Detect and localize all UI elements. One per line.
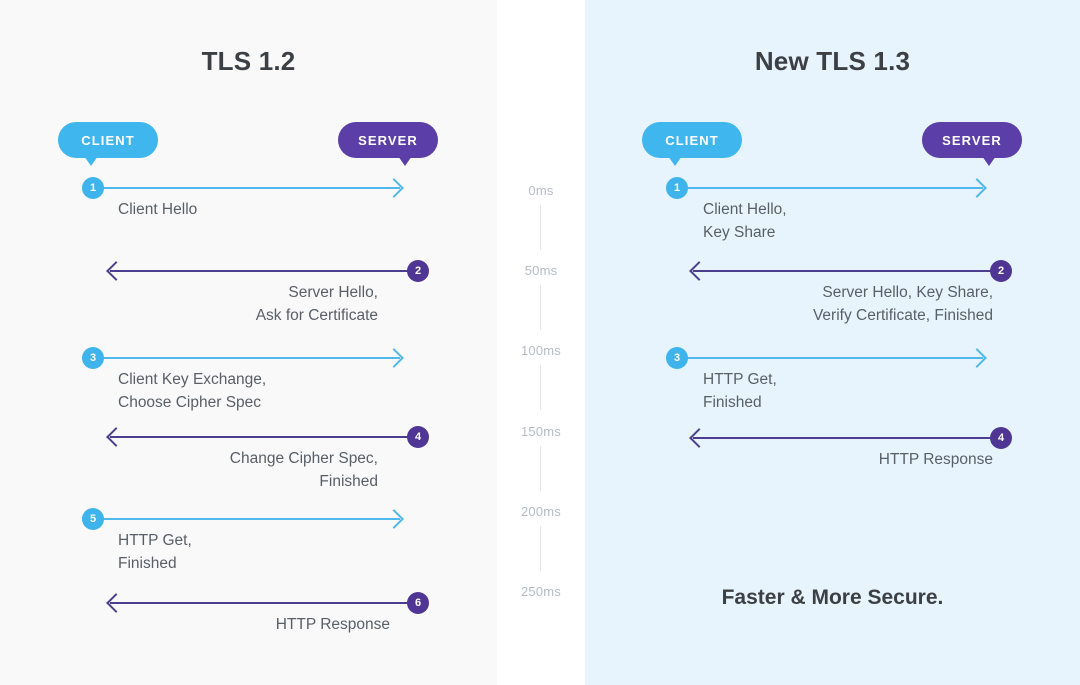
footer-tagline: Faster & More Secure. <box>585 586 1080 610</box>
arrow-client-to-server: 5 <box>93 509 400 529</box>
arrow-line <box>93 518 400 520</box>
arrow-server-to-client: 2 <box>693 261 1001 281</box>
arrowhead-right-icon <box>967 178 987 198</box>
timeline-tick-label: 150ms <box>497 424 585 439</box>
step-badge: 4 <box>990 427 1012 449</box>
arrow-line <box>677 357 983 359</box>
arrowhead-right-icon <box>384 178 404 198</box>
tls-handshake-comparison-diagram: TLS 1.2 CLIENT SERVER 1 Client Hello 2 <box>0 0 1080 685</box>
timeline-tick-line <box>540 446 541 491</box>
arrow-client-to-server: 1 <box>93 178 400 198</box>
message-label: Server Hello, Ask for Certificate <box>118 281 378 327</box>
step-badge: 3 <box>82 347 104 369</box>
endpoint-server-tls12: SERVER <box>338 122 438 158</box>
endpoint-client-label: CLIENT <box>665 133 719 148</box>
arrow-line <box>93 357 400 359</box>
step-badge: 2 <box>407 260 429 282</box>
message-label: HTTP Response <box>118 613 390 636</box>
timeline-tick-label: 0ms <box>497 183 585 198</box>
timeline-tick-label: 100ms <box>497 343 585 358</box>
arrowhead-right-icon <box>384 509 404 529</box>
step-badge: 1 <box>666 177 688 199</box>
endpoint-client-tls12: CLIENT <box>58 122 158 158</box>
step-badge: 2 <box>990 260 1012 282</box>
timeline-axis: 0ms 50ms 100ms 150ms 200ms 250ms <box>497 0 585 685</box>
arrow-line <box>110 270 418 272</box>
timeline-tick-line <box>540 205 541 250</box>
page-title-tls13: New TLS 1.3 <box>585 46 1080 77</box>
pill-tail-icon <box>668 156 682 166</box>
arrowhead-left-icon <box>106 261 126 281</box>
step-badge: 1 <box>82 177 104 199</box>
arrowhead-right-icon <box>967 348 987 368</box>
arrow-server-to-client: 2 <box>110 261 418 281</box>
step-badge: 4 <box>407 426 429 448</box>
arrowhead-right-icon <box>384 348 404 368</box>
timeline-tick-line <box>540 526 541 571</box>
message-label: Client Key Exchange, Choose Cipher Spec <box>118 368 408 414</box>
arrowhead-left-icon <box>106 593 126 613</box>
arrow-line <box>93 187 400 189</box>
panel-tls12: TLS 1.2 CLIENT SERVER 1 Client Hello 2 <box>0 0 497 685</box>
timeline-tick-label: 250ms <box>497 584 585 599</box>
pill-tail-icon <box>982 156 996 166</box>
arrow-server-to-client: 4 <box>693 428 1001 448</box>
message-label: Client Hello, Key Share <box>703 198 983 244</box>
message-label: HTTP Get, Finished <box>118 529 398 575</box>
endpoint-client-label: CLIENT <box>81 133 135 148</box>
message-label: HTTP Response <box>703 448 993 471</box>
message-label: Server Hello, Key Share, Verify Certific… <box>693 281 993 327</box>
pill-tail-icon <box>398 156 412 166</box>
arrow-server-to-client: 4 <box>110 427 418 447</box>
arrowhead-left-icon <box>689 428 709 448</box>
arrow-line <box>677 187 983 189</box>
message-label: Client Hello <box>118 198 398 221</box>
arrow-server-to-client: 6 <box>110 593 418 613</box>
panel-tls13: New TLS 1.3 CLIENT SERVER 1 Client Hello… <box>585 0 1080 685</box>
endpoint-server-label: SERVER <box>942 133 1002 148</box>
timeline-tick-line <box>540 285 541 330</box>
message-label: HTTP Get, Finished <box>703 368 983 414</box>
arrow-client-to-server: 3 <box>93 348 400 368</box>
arrow-client-to-server: 3 <box>677 348 983 368</box>
endpoint-server-tls13: SERVER <box>922 122 1022 158</box>
arrowhead-left-icon <box>106 427 126 447</box>
arrow-line <box>110 436 418 438</box>
page-title-tls12: TLS 1.2 <box>0 46 497 77</box>
arrow-line <box>693 270 1001 272</box>
timeline-tick-label: 200ms <box>497 504 585 519</box>
arrowhead-left-icon <box>689 261 709 281</box>
arrow-line <box>693 437 1001 439</box>
step-badge: 3 <box>666 347 688 369</box>
timeline-tick-line <box>540 365 541 410</box>
endpoint-server-label: SERVER <box>358 133 418 148</box>
timeline-tick-label: 50ms <box>497 263 585 278</box>
pill-tail-icon <box>84 156 98 166</box>
step-badge: 6 <box>407 592 429 614</box>
arrow-client-to-server: 1 <box>677 178 983 198</box>
message-label: Change Cipher Spec, Finished <box>118 447 378 493</box>
endpoint-client-tls13: CLIENT <box>642 122 742 158</box>
step-badge: 5 <box>82 508 104 530</box>
arrow-line <box>110 602 418 604</box>
